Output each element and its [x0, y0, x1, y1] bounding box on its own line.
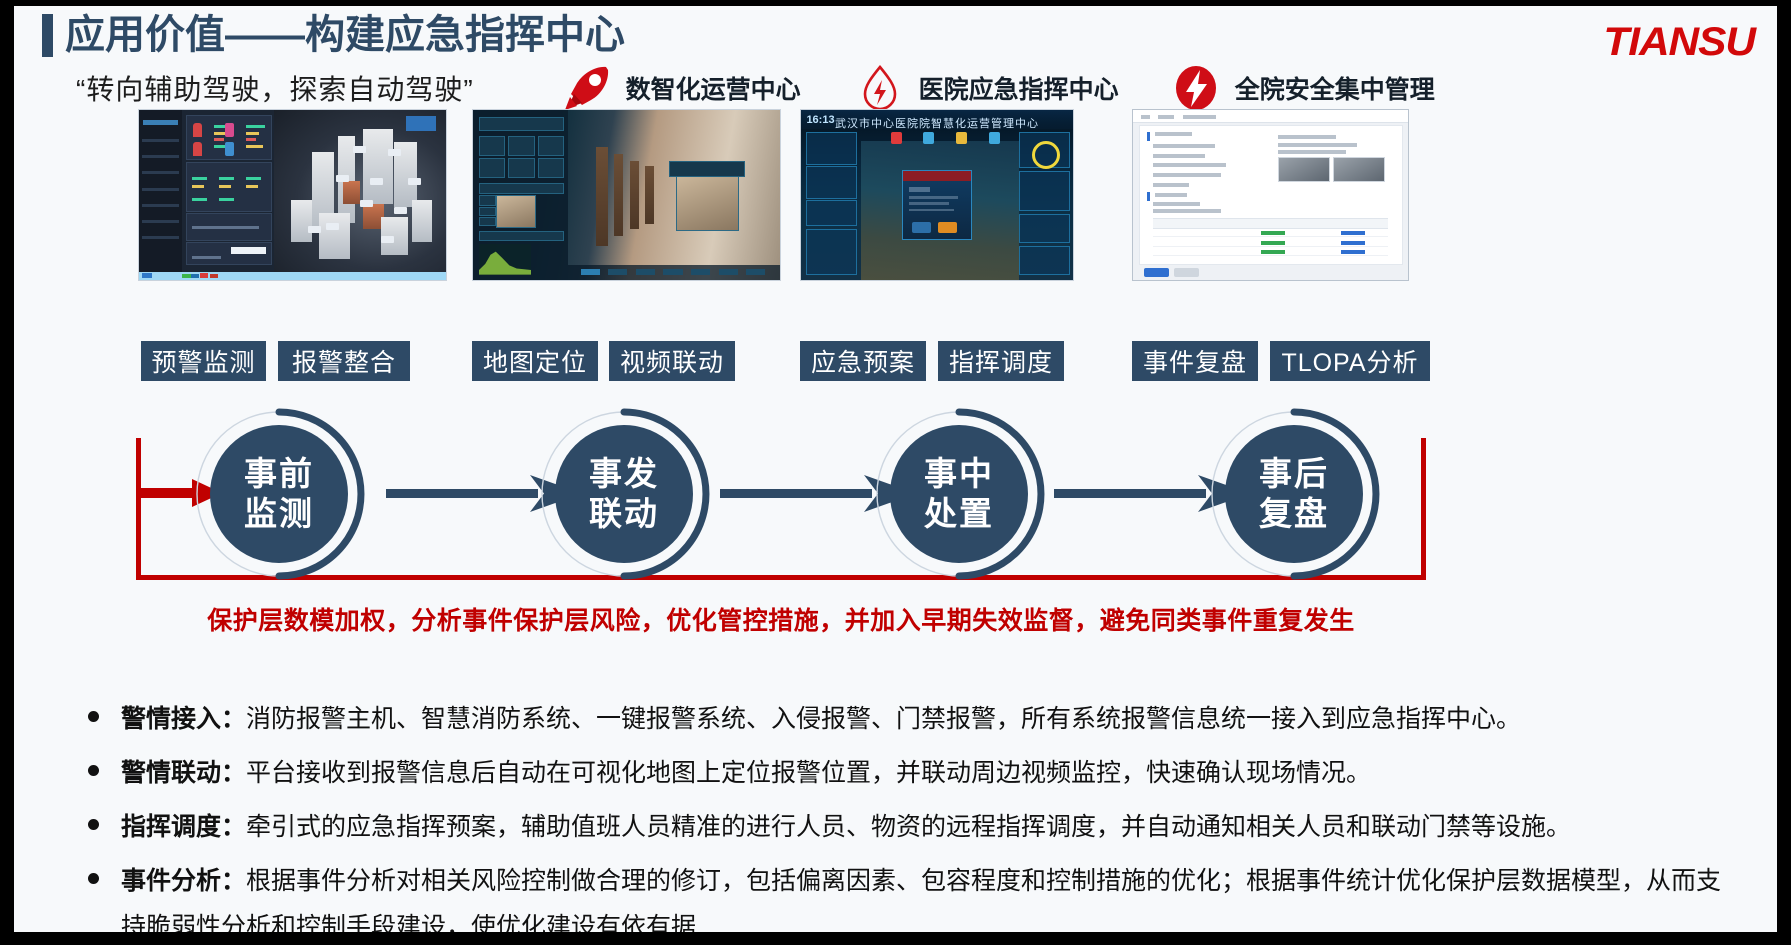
bullet-dot-icon [88, 765, 99, 776]
incident-review-report-screenshot[interactable] [1132, 109, 1409, 281]
chip-incident-review[interactable]: 事件复盘 [1132, 341, 1258, 381]
slide-root: 应用价值——构建应急指挥中心 TIANSU “转向辅助驾驶，探索自动驾驶” 数智… [0, 0, 1791, 945]
s4-cancel-button[interactable] [1174, 268, 1199, 277]
bullet-dot-icon [88, 711, 99, 722]
tag-label-2: 医院应急指挥中心 [919, 70, 1119, 106]
tag-group-1: 数智化运营中心 [562, 64, 801, 112]
feedback-loop-note: 保护层数模加权，分析事件保护层风险，优化管控措施，并加入早期失效监督，避免同类事… [136, 601, 1426, 637]
command-center-screenshot[interactable]: 16:13 武汉市中心医院院智慧化运营管理中心 [800, 109, 1074, 281]
bullet-item-4: 事件分析：根据事件分析对相关风险控制做合理的修订，包括偏离因素、包容程度和控制措… [88, 858, 1747, 932]
page-title-row: 应用价值——构建应急指挥中心 [42, 12, 625, 58]
chip-map-location[interactable]: 地图定位 [472, 341, 598, 381]
s1-taskbar [139, 272, 446, 281]
bullet-text-2: 警情联动：平台接收到报警信息后自动在可视化地图上定位报警位置，并联动周边视频监控… [121, 750, 1371, 796]
chip-command-dispatch[interactable]: 指挥调度 [938, 341, 1064, 381]
slide-canvas: 应用价值——构建应急指挥中心 TIANSU “转向辅助驾驶，探索自动驾驶” 数智… [14, 6, 1777, 932]
bullet-term-1: 警情接入： [121, 705, 246, 733]
s3-alert-dialog[interactable] [902, 170, 972, 240]
bullet-list: 警情接入：消防报警主机、智慧消防系统、一键报警系统、入侵报警、门禁报警，所有系统… [88, 696, 1747, 932]
s4-report-body [1139, 125, 1403, 264]
tagline-quote: “转向辅助驾驶，探索自动驾驶” [76, 68, 474, 108]
s1-sidebar [139, 110, 182, 272]
s2-left-panel [473, 110, 568, 280]
chip-video-linkage[interactable]: 视频联动 [609, 341, 735, 381]
tag-label-3: 全院安全集中管理 [1235, 70, 1435, 106]
bullet-item-2: 警情联动：平台接收到报警信息后自动在可视化地图上定位报警位置，并联动周边视频监控… [88, 750, 1747, 796]
brand-logo: TIANSU [1604, 20, 1755, 65]
s2-bottom-toolbar [568, 265, 780, 280]
s1-left-panel [182, 110, 274, 272]
bullet-item-3: 指挥调度：牵引式的应急指挥预案，辅助值班人员精准的进行人员、物资的远程指挥调度，… [88, 804, 1747, 850]
page-title: 应用价值——构建应急指挥中心 [65, 12, 625, 58]
bullet-dot-icon [88, 873, 99, 884]
3d-campus-monitoring-screenshot[interactable] [138, 109, 447, 281]
flow-node-3 [877, 412, 1041, 576]
s4-window-header [1133, 110, 1408, 123]
bullet-text-1: 警情接入：消防报警主机、智慧消防系统、一键报警系统、入侵报警、门禁报警，所有系统… [121, 696, 1521, 742]
bullet-item-1: 警情接入：消防报警主机、智慧消防系统、一键报警系统、入侵报警、门禁报警，所有系统… [88, 696, 1747, 742]
s4-confirm-button[interactable] [1144, 268, 1169, 277]
bullet-term-3: 指挥调度： [121, 813, 246, 841]
bullet-text-4: 事件分析：根据事件分析对相关风险控制做合理的修订，包括偏离因素、包容程度和控制措… [121, 858, 1741, 932]
rocket-icon [562, 64, 612, 112]
bullet-body-3: 牵引式的应急指挥预案，辅助值班人员精准的进行人员、物资的远程指挥调度，并自动通知… [246, 813, 1571, 841]
subheader-row: “转向辅助驾驶，探索自动驾驶” 数智化运营中心 [76, 64, 1757, 112]
bullet-text-3: 指挥调度：牵引式的应急指挥预案，辅助值班人员精准的进行人员、物资的远程指挥调度，… [121, 804, 1571, 850]
tag-group-2: 医院应急指挥中心 [855, 64, 1119, 112]
bullet-term-4: 事件分析： [121, 867, 246, 895]
bullet-term-2: 警情联动： [121, 759, 246, 787]
s1-3d-campus-view [274, 110, 446, 272]
chip-emergency-plan[interactable]: 应急预案 [800, 341, 926, 381]
bullet-body-4: 根据事件分析对相关风险控制做合理的修订，包括偏离因素、包容程度和控制措施的优化；… [121, 867, 1721, 932]
flow-node-1 [197, 412, 361, 576]
s3-title: 武汉市中心医院院智慧化运营管理中心 [801, 115, 1073, 131]
flow-node-4 [1212, 412, 1376, 576]
water-drop-lightning-icon [855, 64, 905, 112]
flow-node-2 [542, 412, 706, 576]
bullet-body-1: 消防报警主机、智慧消防系统、一键报警系统、入侵报警、门禁报警，所有系统报警信息统… [246, 705, 1521, 733]
s3-dialog-header [903, 171, 971, 182]
process-flow-diagram [14, 401, 1777, 601]
chip-tlopa-analysis[interactable]: TLOPA分析 [1270, 341, 1430, 381]
corridor-video-linkage-screenshot[interactable] [472, 109, 781, 281]
tag-group-3: 全院安全集中管理 [1171, 64, 1435, 112]
tag-label-1: 数智化运营中心 [626, 70, 801, 106]
chip-warning-monitoring[interactable]: 预警监测 [141, 341, 266, 381]
lightning-bolt-icon [1171, 64, 1221, 112]
chip-alarm-integration[interactable]: 报警整合 [278, 341, 410, 381]
bullet-dot-icon [88, 819, 99, 830]
title-accent-bar [42, 14, 53, 57]
bullet-body-2: 平台接收到报警信息后自动在可视化地图上定位报警位置，并联动周边视频监控，快速确认… [246, 759, 1371, 787]
